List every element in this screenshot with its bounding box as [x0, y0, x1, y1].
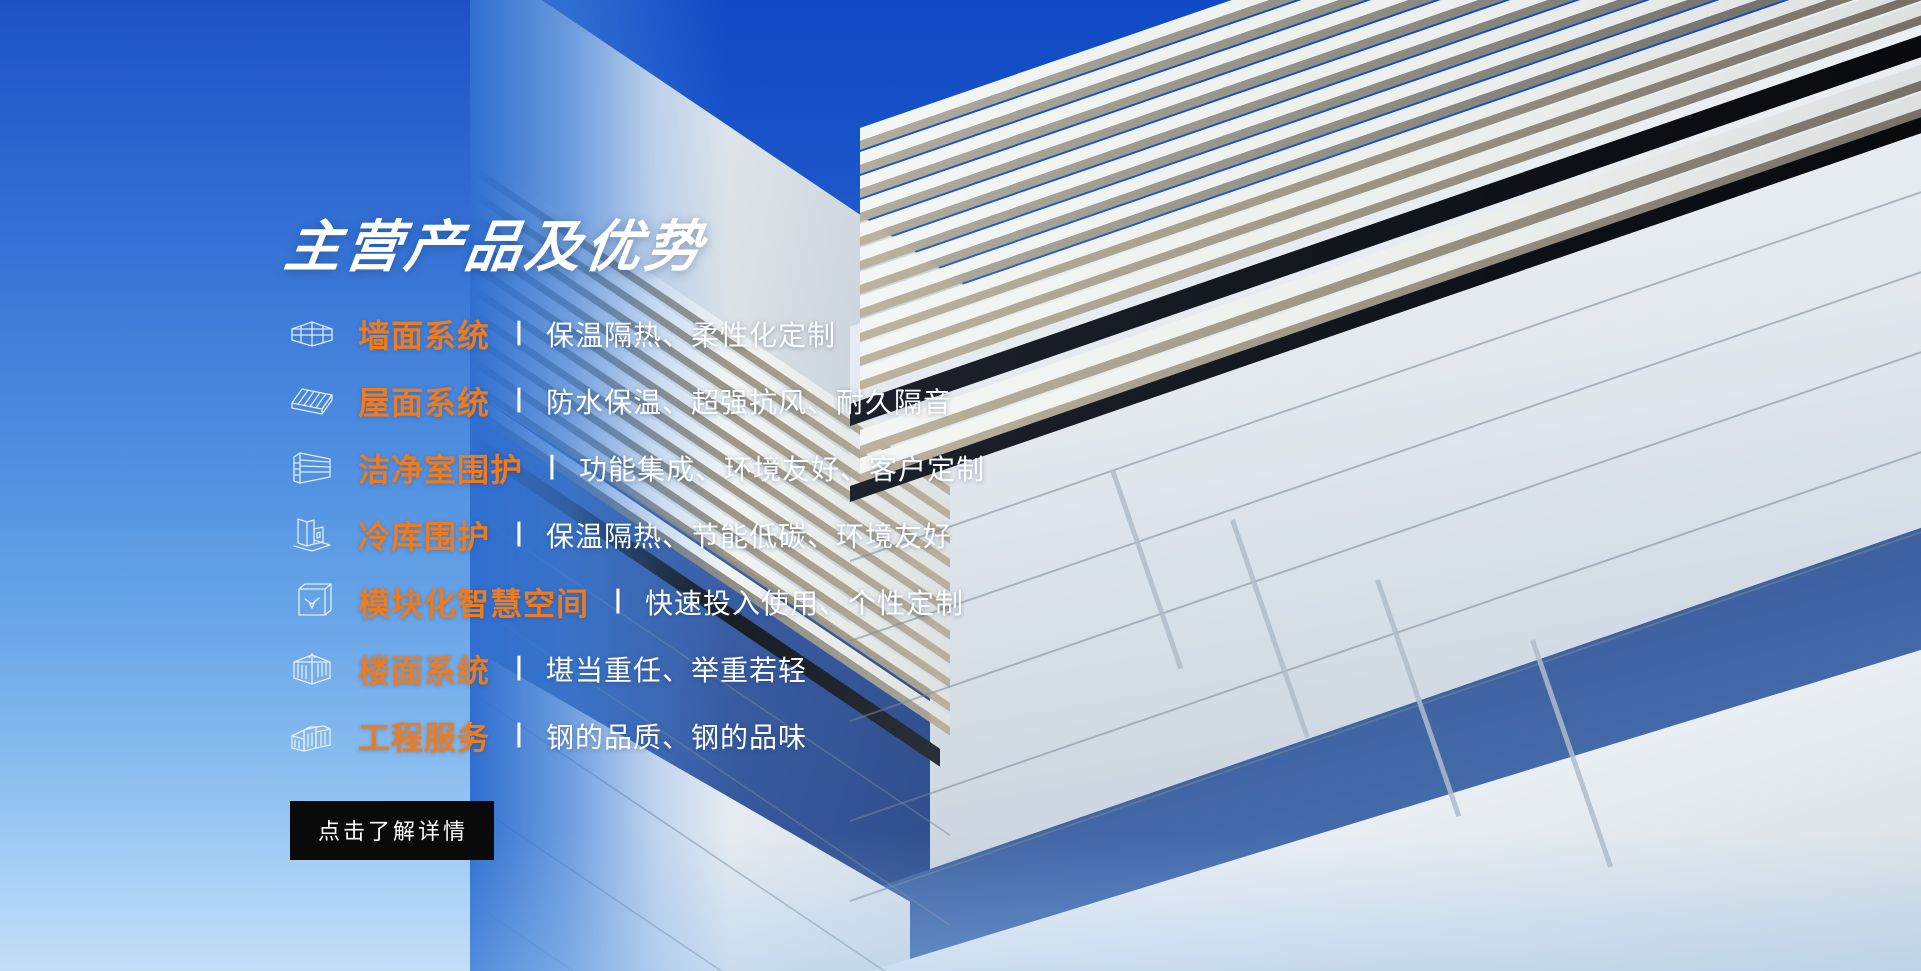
product-separator: 丨: [605, 582, 631, 619]
learn-more-button[interactable]: 点击了解详情: [290, 801, 494, 860]
product-name: 工程服务: [358, 713, 490, 759]
product-name: 模块化智慧空间: [358, 579, 589, 625]
product-description: 防水保温、超强抗风、耐久隔音: [546, 381, 952, 421]
wall-system-icon: [286, 312, 338, 356]
product-separator: 丨: [506, 314, 532, 351]
page-title: 主营产品及优势: [280, 202, 711, 283]
product-row[interactable]: 楼面系统丨堪当重任、举重若轻: [286, 635, 1386, 702]
cleanroom-icon: [286, 446, 338, 490]
hero-banner: 主营产品及优势 墙面系统丨保温隔热、柔性化定制 屋面系统丨防水保温、超强抗风、耐…: [0, 0, 1921, 971]
product-separator: 丨: [506, 716, 532, 753]
cold-storage-icon: [286, 513, 338, 557]
product-name: 冷库围护: [358, 512, 490, 558]
product-description: 保温隔热、节能低碳、环境友好: [546, 515, 952, 555]
product-row[interactable]: 屋面系统丨防水保温、超强抗风、耐久隔音: [286, 367, 1386, 434]
product-separator: 丨: [506, 515, 532, 552]
product-description: 保温隔热、柔性化定制: [546, 314, 836, 354]
floor-system-icon: [286, 647, 338, 691]
product-separator: 丨: [506, 649, 532, 686]
product-row[interactable]: 洁净室围护丨功能集成、环境友好、客户定制: [286, 434, 1386, 501]
engineering-service-icon: [286, 714, 338, 758]
product-description: 堪当重任、举重若轻: [546, 649, 807, 689]
product-name: 墙面系统: [358, 311, 490, 357]
product-name: 洁净室围护: [358, 445, 523, 491]
product-name: 楼面系统: [358, 646, 490, 692]
product-separator: 丨: [539, 448, 565, 485]
product-description: 快速投入使用、个性定制: [645, 582, 964, 622]
product-description: 钢的品质、钢的品味: [546, 716, 807, 756]
product-row[interactable]: 模块化智慧空间丨快速投入使用、个性定制: [286, 568, 1386, 635]
product-row[interactable]: 冷库围护丨保温隔热、节能低碳、环境友好: [286, 501, 1386, 568]
roof-system-icon: [286, 379, 338, 423]
product-row[interactable]: 墙面系统丨保温隔热、柔性化定制: [286, 300, 1386, 367]
product-separator: 丨: [506, 381, 532, 418]
product-name: 屋面系统: [358, 378, 490, 424]
product-list: 墙面系统丨保温隔热、柔性化定制 屋面系统丨防水保温、超强抗风、耐久隔音 洁净室围…: [286, 300, 1386, 769]
product-description: 功能集成、环境友好、客户定制: [579, 448, 985, 488]
product-row[interactable]: 工程服务丨钢的品质、钢的品味: [286, 702, 1386, 769]
modular-space-icon: [286, 580, 338, 624]
hero-content: 主营产品及优势 墙面系统丨保温隔热、柔性化定制 屋面系统丨防水保温、超强抗风、耐…: [0, 0, 1921, 971]
